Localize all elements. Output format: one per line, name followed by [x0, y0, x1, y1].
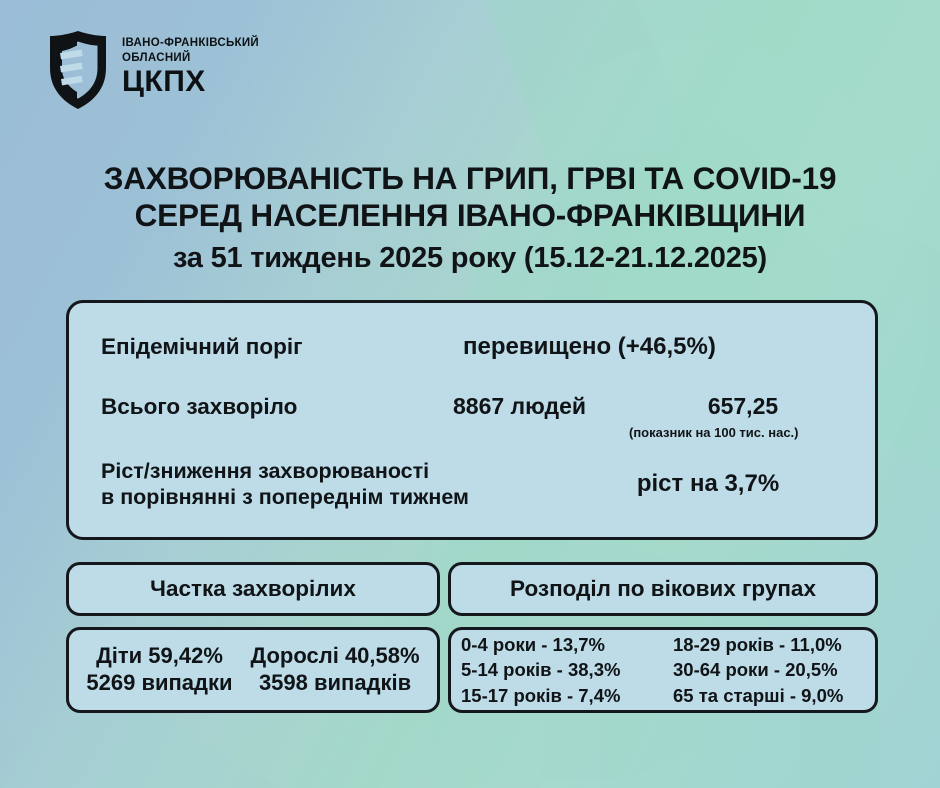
epidemic-threshold-value: перевищено (+46,5%)	[463, 333, 716, 361]
age-group-item: 30-64 роки - 20,5%	[673, 657, 843, 683]
age-group-item: 5-14 років - 38,3%	[461, 657, 657, 683]
infographic-poster: ІВАНО-ФРАНКІВСЬКИЙ ОБЛАСНИЙ ЦКПХ ЗАХВОРЮ…	[0, 0, 940, 788]
weekly-change-label-line-2: в порівнянні з попереднім тижнем	[101, 484, 571, 510]
age-group-item: 65 та старші - 9,0%	[673, 683, 843, 709]
share-adults-percent: Дорослі 40,58%	[251, 643, 420, 670]
logo-acronym: ЦКПХ	[122, 66, 259, 98]
share-adults-cases: 3598 випадків	[251, 670, 420, 697]
shield-heart-icon	[44, 30, 112, 110]
stat-row-total-cases: Всього захворіло 8867 людей 657,25	[101, 393, 845, 420]
incidence-rate-note: (показник на 100 тис. нас.)	[629, 425, 845, 440]
title-line-2: СЕРЕД НАСЕЛЕННЯ ІВАНО-ФРАНКІВЩИНИ	[0, 197, 940, 234]
weekly-change-label-line-1: Ріст/зниження захворюваності	[101, 458, 571, 484]
stat-row-epidemic-threshold: Епідемічний поріг перевищено (+46,5%)	[101, 333, 845, 361]
summary-statistics-panel: Епідемічний поріг перевищено (+46,5%) Вс…	[66, 300, 878, 540]
share-column-children: Діти 59,42% 5269 випадки	[86, 643, 232, 697]
share-children-cases: 5269 випадки	[86, 670, 232, 697]
age-groups-panel: 0-4 роки - 13,7% 5-14 років - 38,3% 15-1…	[448, 627, 878, 713]
title-line-1: ЗАХВОРЮВАНІСТЬ НА ГРИП, ГРВІ ТА COVID-19	[0, 160, 940, 197]
logo-line-1: ІВАНО-ФРАНКІВСЬКИЙ	[122, 36, 259, 51]
stat-row-weekly-change: Ріст/зниження захворюваності в порівнянн…	[101, 458, 845, 510]
logo-line-2: ОБЛАСНИЙ	[122, 51, 259, 66]
share-children-percent: Діти 59,42%	[86, 643, 232, 670]
total-cases-label: Всього захворіло	[101, 393, 453, 420]
age-groups-column-left: 0-4 роки - 13,7% 5-14 років - 38,3% 15-1…	[461, 632, 657, 709]
total-cases-people: 8867 людей	[453, 393, 653, 420]
age-groups-header-label: Розподіл по вікових групах	[510, 576, 816, 602]
title-line-3: за 51 тиждень 2025 року (15.12-21.12.202…	[0, 241, 940, 276]
organization-logo: ІВАНО-ФРАНКІВСЬКИЙ ОБЛАСНИЙ ЦКПХ	[44, 30, 259, 110]
age-group-item: 15-17 років - 7,4%	[461, 683, 657, 709]
age-group-item: 0-4 роки - 13,7%	[461, 632, 657, 658]
total-cases-rate: 657,25	[653, 393, 833, 420]
share-column-adults: Дорослі 40,58% 3598 випадків	[251, 643, 420, 697]
age-group-item: 18-29 років - 11,0%	[673, 632, 843, 658]
share-of-cases-panel: Діти 59,42% 5269 випадки Дорослі 40,58% …	[66, 627, 440, 713]
weekly-change-label: Ріст/зниження захворюваності в порівнянн…	[101, 458, 571, 510]
share-of-cases-header-label: Частка захворілих	[150, 576, 356, 602]
share-of-cases-header: Частка захворілих	[66, 562, 440, 616]
age-groups-header: Розподіл по вікових групах	[448, 562, 878, 616]
epidemic-threshold-label: Епідемічний поріг	[101, 333, 463, 360]
age-groups-column-right: 18-29 років - 11,0% 30-64 роки - 20,5% 6…	[673, 632, 843, 709]
weekly-change-value: ріст на 3,7%	[571, 470, 845, 498]
page-title: ЗАХВОРЮВАНІСТЬ НА ГРИП, ГРВІ ТА COVID-19…	[0, 160, 940, 276]
